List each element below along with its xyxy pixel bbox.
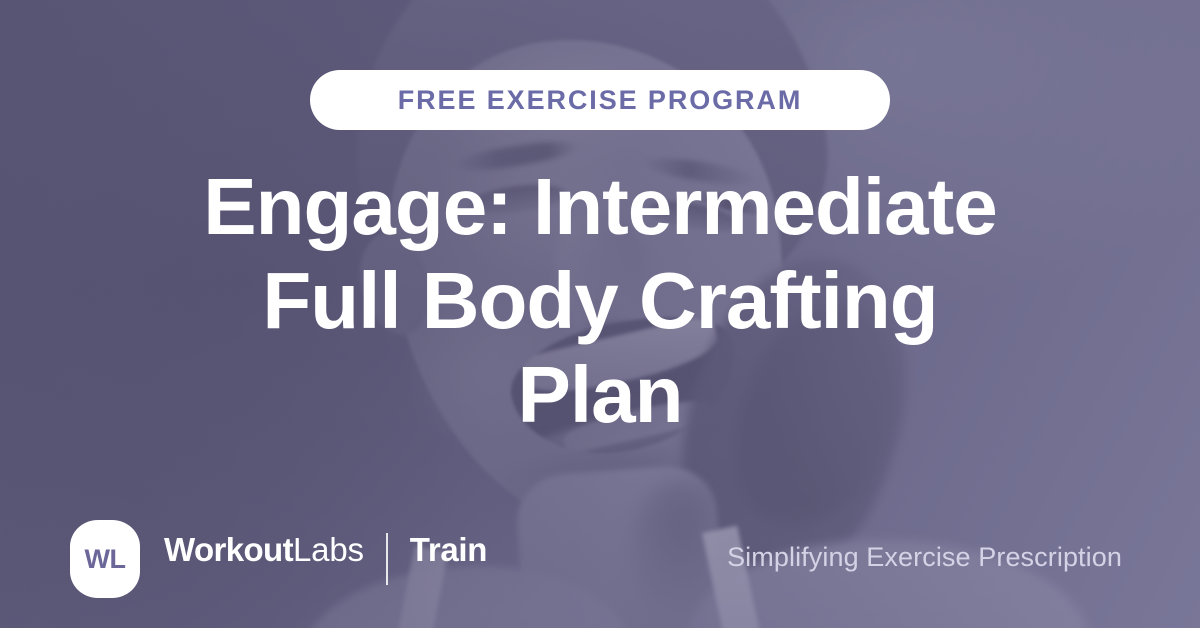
headline-line-2: Full Body Crafting <box>0 254 1200 348</box>
program-badge: FREE EXERCISE PROGRAM <box>310 70 890 130</box>
banner-content: FREE EXERCISE PROGRAM Engage: Intermedia… <box>0 0 1200 628</box>
brand-tagline: Simplifying Exercise Prescription <box>727 544 1122 571</box>
wordmark-divider <box>386 533 388 585</box>
wordmark-workout: Workout <box>164 533 293 566</box>
program-badge-label: FREE EXERCISE PROGRAM <box>398 87 802 114</box>
logo-monogram-label: WL <box>85 546 126 573</box>
wordmark-labs: Labs <box>293 533 364 566</box>
promo-banner: FREE EXERCISE PROGRAM Engage: Intermedia… <box>0 0 1200 628</box>
headline-line-3: Plan <box>0 348 1200 442</box>
wordmark-train: Train <box>410 533 487 566</box>
brand-lockup: WL Workout Labs Train <box>70 520 487 598</box>
banner-footer: WL Workout Labs Train Simplifying Exerci… <box>0 498 1200 628</box>
workoutlabs-logo-icon: WL <box>70 520 140 598</box>
headline-line-1: Engage: Intermediate <box>0 160 1200 254</box>
brand-wordmark: Workout Labs Train <box>164 533 487 585</box>
page-title: Engage: Intermediate Full Body Crafting … <box>0 160 1200 442</box>
